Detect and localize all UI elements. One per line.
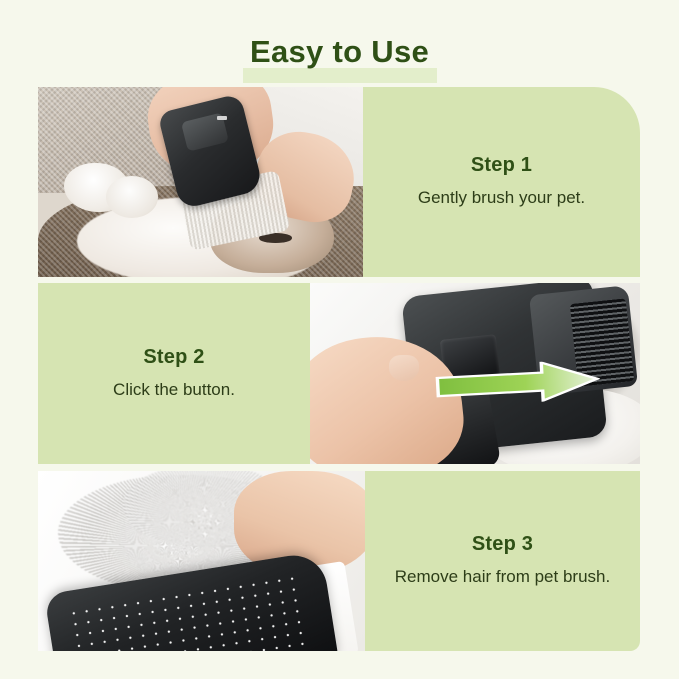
- step-1-title: Step 1: [471, 154, 532, 177]
- cat-paw-second: [106, 176, 158, 218]
- thumbnail: [389, 355, 419, 380]
- step-3-description: Remove hair from pet brush.: [379, 566, 626, 589]
- photo-cat-brushing: [38, 87, 363, 277]
- step-2-caption: Step 2 Click the button.: [38, 283, 310, 464]
- photo-button-press: [310, 283, 640, 464]
- step-2-title: Step 2: [143, 346, 204, 369]
- step-1-description: Gently brush your pet.: [402, 187, 601, 210]
- step-row-2: Step 2 Click the button.: [38, 283, 640, 464]
- right-arrow-icon: [434, 358, 601, 406]
- page-title: Easy to Use: [250, 26, 429, 78]
- page-title-wrapper: Easy to Use: [0, 26, 679, 78]
- step-3-caption: Step 3 Remove hair from pet brush.: [365, 471, 640, 651]
- step-2-photo: [310, 283, 640, 464]
- step-row-1: Step 1 Gently brush your pet.: [38, 87, 640, 277]
- brush-logo: [217, 116, 227, 121]
- step-1-photo: [38, 87, 363, 277]
- step-1-caption: Step 1 Gently brush your pet.: [363, 87, 640, 277]
- step-row-3: Step 3 Remove hair from pet brush.: [38, 471, 640, 651]
- step-2-description: Click the button.: [97, 379, 251, 402]
- infographic-page: Easy to Use Step 1 Ge: [0, 0, 679, 679]
- step-3-title: Step 3: [472, 533, 533, 556]
- step-3-photo: [38, 471, 365, 651]
- photo-hair-removal: [38, 471, 365, 651]
